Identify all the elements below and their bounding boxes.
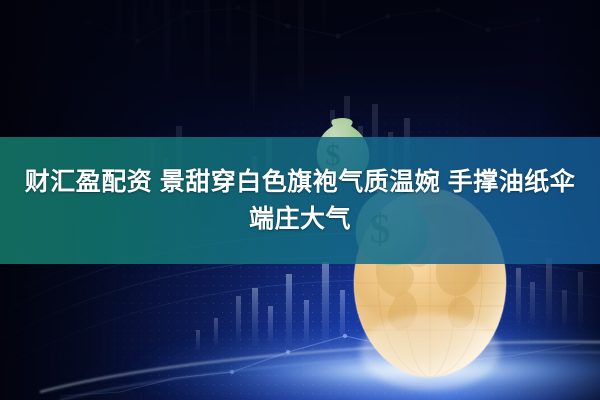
headline-line-2: 端庄大气 bbox=[249, 202, 351, 237]
banner-image: $ $ 财汇盈配资 景甜穿白色旗袍气质温婉 手撑油纸伞 端庄大气 bbox=[0, 0, 600, 400]
headline-line-1: 财汇盈配资 景甜穿白色旗袍气质温婉 手撑油纸伞 bbox=[25, 165, 575, 200]
horizon-glow-arc bbox=[40, 326, 600, 400]
headline-band: 财汇盈配资 景甜穿白色旗袍气质温婉 手撑油纸伞 端庄大气 bbox=[0, 137, 600, 264]
